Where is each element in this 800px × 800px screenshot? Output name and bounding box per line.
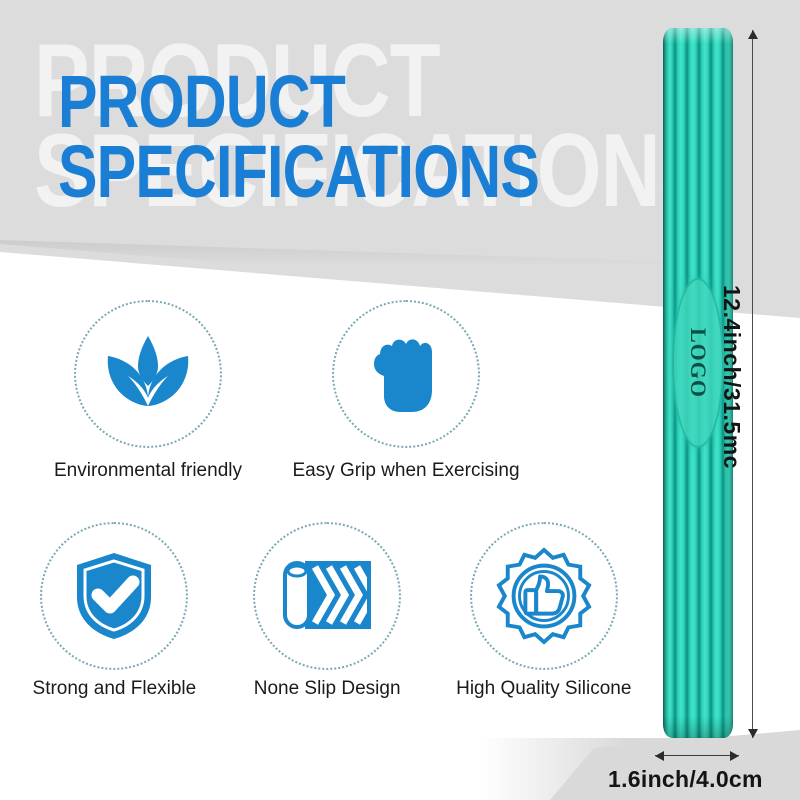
leaf-icon	[74, 300, 222, 448]
feature-label: Strong and Flexible	[33, 678, 197, 700]
feature-label: Easy Grip when Exercising	[292, 460, 519, 482]
page-title: PRODUCT SPECIFICATIONS PRODUCT SPECIFICA…	[36, 30, 656, 235]
arrow-up-icon	[748, 30, 758, 39]
fist-icon	[332, 300, 480, 448]
feature-item-environmental-friendly: Environmental friendly	[52, 300, 244, 482]
roller-top-highlight	[663, 28, 733, 44]
arrow-left-icon	[655, 751, 664, 761]
rolled-mat-chevron-icon	[253, 522, 401, 670]
quality-badge-thumbs-up-icon	[470, 522, 618, 670]
feature-item-high-quality-silicone: High Quality Silicone	[448, 522, 640, 700]
width-dimension-line	[655, 755, 739, 756]
arrow-right-icon	[730, 751, 739, 761]
feature-grid: Environmental friendly Easy Grip when Ex…	[0, 300, 640, 700]
arrow-down-icon	[748, 729, 758, 738]
feature-row-bottom: Strong and Flexible	[0, 522, 640, 700]
title-line2: SPECIFICATIONS	[58, 138, 539, 206]
feature-item-easy-grip: Easy Grip when Exercising	[310, 300, 502, 482]
height-dimension-label: 12.4inch/31.5mc	[718, 285, 745, 469]
roller-left-shading	[663, 28, 670, 738]
feature-row-top: Environmental friendly Easy Grip when Ex…	[0, 300, 640, 482]
shield-check-icon	[40, 522, 188, 670]
width-dimension-arrow	[655, 755, 739, 757]
roller-bottom-shadow	[663, 716, 733, 738]
infographic-canvas: PRODUCT SPECIFICATIONS PRODUCT SPECIFICA…	[0, 0, 800, 800]
feature-label: None Slip Design	[254, 678, 401, 700]
title-main-layer: PRODUCT SPECIFICATIONS	[58, 68, 539, 206]
feature-label: High Quality Silicone	[456, 678, 631, 700]
logo-text: LOGO	[685, 328, 711, 398]
feature-item-strong-and-flexible: Strong and Flexible	[22, 522, 207, 700]
height-dimension-arrow	[752, 30, 754, 738]
feature-label: Environmental friendly	[54, 460, 242, 482]
logo-badge: LOGO	[672, 278, 724, 448]
width-dimension-label: 1.6inch/4.0cm	[608, 766, 763, 793]
height-dimension-line	[752, 30, 753, 738]
feature-item-none-slip-design: None Slip Design	[235, 522, 420, 700]
